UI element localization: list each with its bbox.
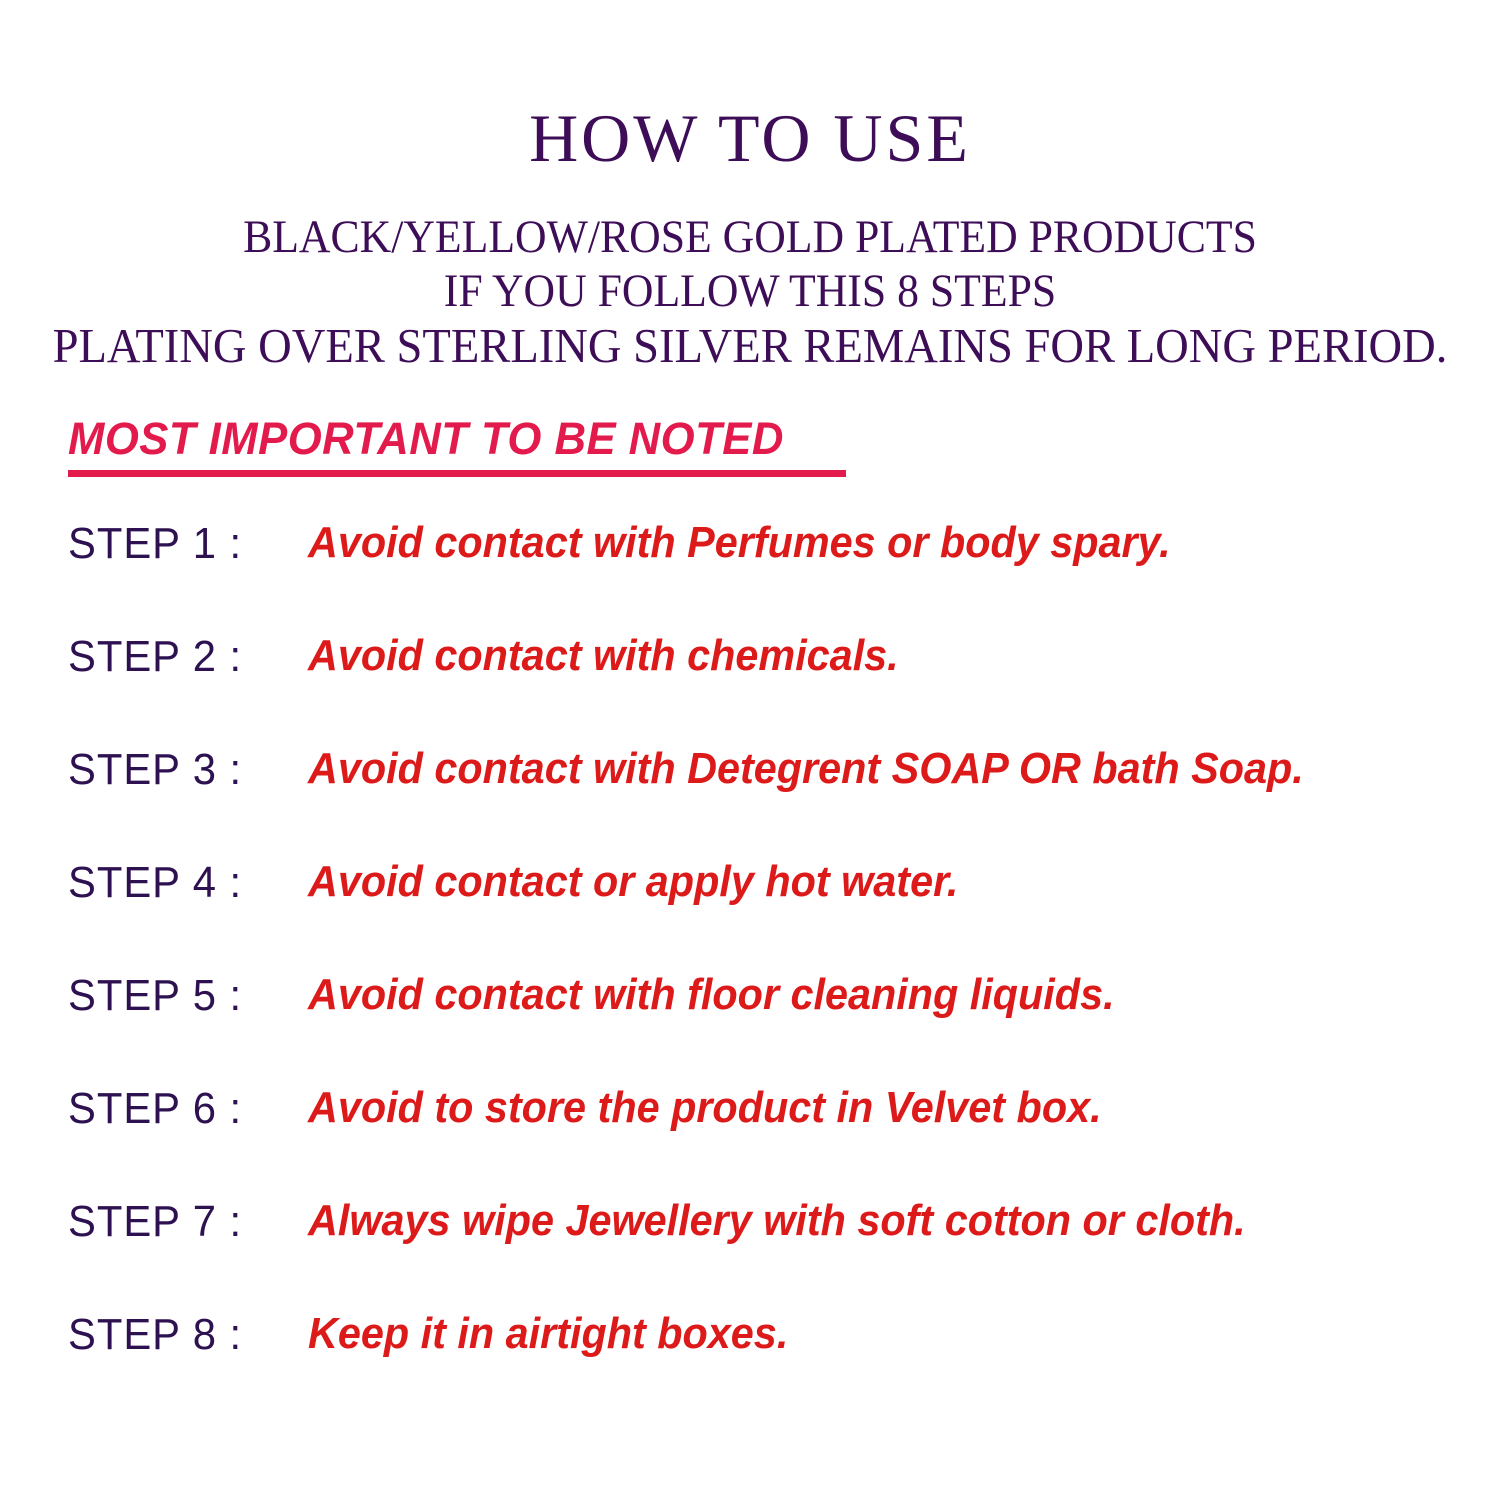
step-label-2: STEP 2 :	[68, 632, 242, 682]
steps-list: STEP 1 : Avoid contact with Perfumes or …	[0, 505, 1500, 1409]
header-block: HOW TO USE BLACK/YELLOW/ROSE GOLD PLATED…	[0, 0, 1500, 374]
step-text-6: Avoid to store the product in Velvet box…	[308, 1083, 1102, 1133]
step-row: STEP 2 : Avoid contact with chemicals.	[0, 618, 1500, 731]
step-row: STEP 6 : Avoid to store the product in V…	[0, 1070, 1500, 1183]
step-row: STEP 5 : Avoid contact with floor cleani…	[0, 957, 1500, 1070]
step-text-5: Avoid contact with floor cleaning liquid…	[308, 970, 1115, 1020]
step-row: STEP 4 : Avoid contact or apply hot wate…	[0, 844, 1500, 957]
step-text-1: Avoid contact with Perfumes or body spar…	[308, 518, 1171, 568]
notice-heading-block: MOST IMPORTANT TO BE NOTED	[68, 414, 846, 477]
step-label-6: STEP 6 :	[68, 1084, 242, 1134]
step-label-4: STEP 4 :	[68, 858, 242, 908]
notice-underline	[68, 470, 846, 477]
step-text-3: Avoid contact with Detegrent SOAP OR bat…	[308, 744, 1304, 794]
care-instructions-page: HOW TO USE BLACK/YELLOW/ROSE GOLD PLATED…	[0, 0, 1500, 1500]
subtitle-line-3: PLATING OVER STERLING SILVER REMAINS FOR…	[38, 318, 1463, 374]
step-text-4: Avoid contact or apply hot water.	[308, 857, 958, 907]
step-label-8: STEP 8 :	[68, 1310, 242, 1360]
step-text-8: Keep it in airtight boxes.	[308, 1309, 788, 1359]
step-label-5: STEP 5 :	[68, 971, 242, 1021]
step-row: STEP 8 : Keep it in airtight boxes.	[0, 1296, 1500, 1409]
step-label-3: STEP 3 :	[68, 745, 242, 795]
step-row: STEP 7 : Always wipe Jewellery with soft…	[0, 1183, 1500, 1296]
step-text-2: Avoid contact with chemicals.	[308, 631, 899, 681]
step-row: STEP 1 : Avoid contact with Perfumes or …	[0, 505, 1500, 618]
step-text-7: Always wipe Jewellery with soft cotton o…	[308, 1196, 1246, 1246]
page-title: HOW TO USE	[0, 0, 1500, 172]
step-row: STEP 3 : Avoid contact with Detegrent SO…	[0, 731, 1500, 844]
step-label-1: STEP 1 :	[68, 519, 242, 569]
subtitle-line-2: IF YOU FOLLOW THIS 8 STEPS	[53, 264, 1448, 318]
notice-heading: MOST IMPORTANT TO BE NOTED	[68, 414, 784, 464]
subtitle-line-1: BLACK/YELLOW/ROSE GOLD PLATED PRODUCTS	[53, 172, 1448, 264]
step-label-7: STEP 7 :	[68, 1197, 242, 1247]
